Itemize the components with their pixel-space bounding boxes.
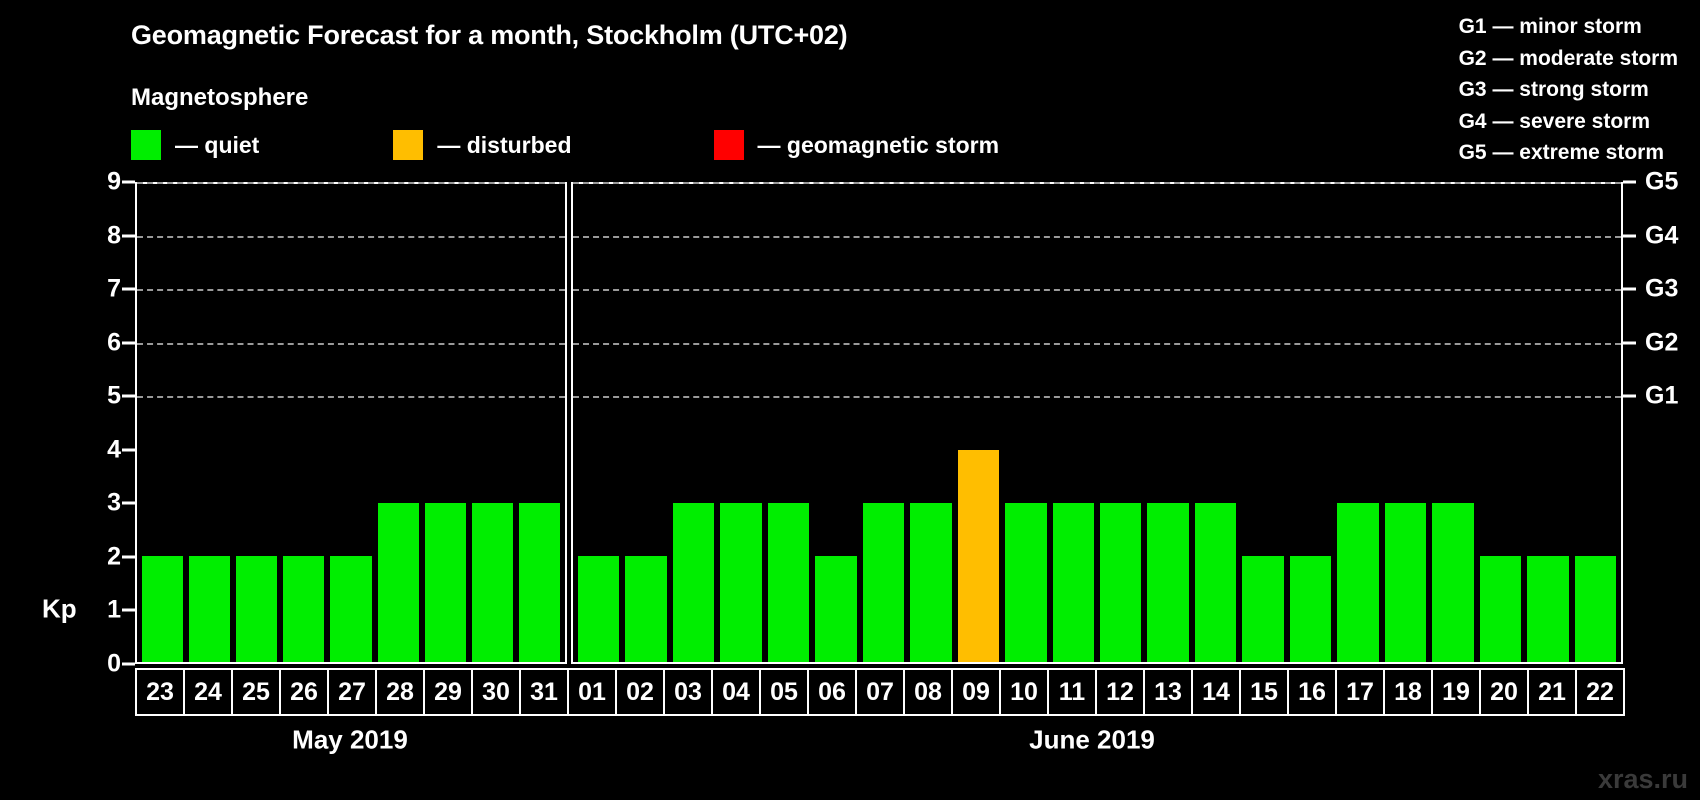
- legend-label-2: — geomagnetic storm: [758, 132, 1000, 159]
- g-legend-row-1: G1 — minor storm: [1459, 11, 1678, 43]
- kp-bar[interactable]: [625, 556, 666, 662]
- day-cell[interactable]: 08: [903, 668, 953, 716]
- day-cell[interactable]: 30: [471, 668, 521, 716]
- magnetosphere-label: Magnetosphere: [131, 84, 308, 112]
- bar-slot[interactable]: [516, 184, 563, 662]
- kp-axis-title: Kp: [42, 594, 77, 625]
- bar-slot[interactable]: [1382, 184, 1429, 662]
- g-legend-row-2: G2 — moderate storm: [1459, 43, 1678, 75]
- g-tick-G3: G3: [1645, 275, 1678, 304]
- kp-bar[interactable]: [910, 503, 951, 662]
- bars-may: [137, 184, 565, 662]
- kp-bar[interactable]: [283, 556, 324, 662]
- kp-bar[interactable]: [578, 556, 619, 662]
- kp-bar[interactable]: [1100, 503, 1141, 662]
- day-cell[interactable]: 23: [135, 668, 185, 716]
- day-cell[interactable]: 26: [279, 668, 329, 716]
- kp-bar[interactable]: [189, 556, 230, 662]
- day-cell[interactable]: 27: [327, 668, 377, 716]
- day-cell[interactable]: 18: [1383, 668, 1433, 716]
- day-cell[interactable]: 06: [807, 668, 857, 716]
- day-cell[interactable]: 03: [663, 668, 713, 716]
- day-cell[interactable]: 14: [1191, 668, 1241, 716]
- g-tickmark-G5: [1623, 181, 1636, 184]
- kp-bar[interactable]: [472, 503, 513, 662]
- g-tick-G4: G4: [1645, 221, 1678, 250]
- disturbed-swatch: [393, 130, 423, 160]
- bar-slot[interactable]: [907, 184, 954, 662]
- kp-bar[interactable]: [378, 503, 419, 662]
- quiet-swatch: [131, 130, 161, 160]
- bar-slot[interactable]: [812, 184, 859, 662]
- kp-bar[interactable]: [330, 556, 371, 662]
- kp-tickmark-7: [122, 288, 135, 291]
- g-scale-axis: G5G4G3G2G1: [1623, 182, 1700, 664]
- month-label-june: June 2019: [1029, 725, 1155, 756]
- day-cell[interactable]: 17: [1335, 668, 1385, 716]
- day-cell[interactable]: 10: [999, 668, 1049, 716]
- kp-bar[interactable]: [1242, 556, 1283, 662]
- kp-bar[interactable]: [142, 556, 183, 662]
- bar-slot[interactable]: [1477, 184, 1524, 662]
- storm-swatch: [714, 130, 744, 160]
- kp-bar[interactable]: [1195, 503, 1236, 662]
- day-cell[interactable]: 11: [1047, 668, 1097, 716]
- bar-slot[interactable]: [765, 184, 812, 662]
- bar-slot[interactable]: [233, 184, 280, 662]
- kp-tick-7: 7: [107, 275, 121, 304]
- day-cell[interactable]: 28: [375, 668, 425, 716]
- day-cell[interactable]: 24: [183, 668, 233, 716]
- g-legend-row-5: G5 — extreme storm: [1459, 137, 1678, 169]
- kp-bar[interactable]: [1053, 503, 1094, 662]
- bar-slot[interactable]: [575, 184, 622, 662]
- kp-tickmark-2: [122, 555, 135, 558]
- day-cell[interactable]: 12: [1095, 668, 1145, 716]
- day-cell[interactable]: 02: [615, 668, 665, 716]
- kp-bar[interactable]: [1005, 503, 1046, 662]
- day-cell[interactable]: 01: [567, 668, 617, 716]
- kp-tickmark-1: [122, 609, 135, 612]
- kp-tickmark-6: [122, 341, 135, 344]
- bar-slot[interactable]: [1050, 184, 1097, 662]
- g-tickmark-G4: [1623, 234, 1636, 237]
- g-scale-legend: G1 — minor stormG2 — moderate stormG3 — …: [1459, 11, 1678, 169]
- legend-entry-0: — quiet: [131, 130, 259, 160]
- bar-slot[interactable]: [375, 184, 422, 662]
- kp-bar[interactable]: [673, 503, 714, 662]
- g-tickmark-G3: [1623, 288, 1636, 291]
- kp-bar[interactable]: [1337, 503, 1378, 662]
- kp-bar[interactable]: [1290, 556, 1331, 662]
- kp-bar[interactable]: [720, 503, 761, 662]
- kp-axis: Kp 9876543210: [0, 182, 135, 664]
- kp-tick-0: 0: [107, 650, 121, 679]
- kp-bar[interactable]: [236, 556, 277, 662]
- day-group-june: 0102030405060708091011121314151617181920…: [567, 668, 1623, 716]
- bar-slot[interactable]: [469, 184, 516, 662]
- chart-plot-area: [135, 182, 1623, 664]
- kp-bar[interactable]: [815, 556, 856, 662]
- day-cell[interactable]: 15: [1239, 668, 1289, 716]
- kp-bar[interactable]: [519, 503, 560, 662]
- bar-slot[interactable]: [1524, 184, 1571, 662]
- day-cell[interactable]: 16: [1287, 668, 1337, 716]
- g-tick-G5: G5: [1645, 168, 1678, 197]
- kp-tickmark-5: [122, 395, 135, 398]
- day-cell[interactable]: 13: [1143, 668, 1193, 716]
- g-tickmark-G1: [1623, 395, 1636, 398]
- day-cell[interactable]: 05: [759, 668, 809, 716]
- bar-slot[interactable]: [860, 184, 907, 662]
- kp-bar[interactable]: [1480, 556, 1521, 662]
- day-cell[interactable]: 07: [855, 668, 905, 716]
- kp-bar[interactable]: [1147, 503, 1188, 662]
- legend-label-1: — disturbed: [437, 132, 571, 159]
- bar-slot[interactable]: [186, 184, 233, 662]
- bar-slot[interactable]: [1429, 184, 1476, 662]
- panel-june: [571, 182, 1623, 664]
- kp-bar[interactable]: [768, 503, 809, 662]
- panel-may: [135, 182, 567, 664]
- kp-tick-8: 8: [107, 221, 121, 250]
- g-tick-G2: G2: [1645, 328, 1678, 357]
- bar-slot[interactable]: [1334, 184, 1381, 662]
- day-cell[interactable]: 25: [231, 668, 281, 716]
- kp-tick-9: 9: [107, 168, 121, 197]
- g-tickmark-G2: [1623, 341, 1636, 344]
- kp-bar[interactable]: [958, 450, 999, 662]
- bar-slot[interactable]: [327, 184, 374, 662]
- bar-slot[interactable]: [1097, 184, 1144, 662]
- kp-tick-6: 6: [107, 328, 121, 357]
- bar-slot[interactable]: [1572, 184, 1619, 662]
- kp-tickmark-9: [122, 181, 135, 184]
- kp-tickmark-4: [122, 448, 135, 451]
- bar-slot[interactable]: [280, 184, 327, 662]
- day-cell[interactable]: 20: [1479, 668, 1529, 716]
- kp-bar[interactable]: [1432, 503, 1473, 662]
- bar-slot[interactable]: [1239, 184, 1286, 662]
- bars-june: [573, 184, 1621, 662]
- day-label-row: 232425262728293031 010203040506070809101…: [135, 668, 1623, 716]
- day-cell[interactable]: 29: [423, 668, 473, 716]
- kp-tickmark-0: [122, 663, 135, 666]
- kp-bar[interactable]: [425, 503, 466, 662]
- month-label-may: May 2019: [292, 725, 408, 756]
- kp-bar[interactable]: [1527, 556, 1568, 662]
- day-group-may: 232425262728293031: [135, 668, 567, 716]
- page-title: Geomagnetic Forecast for a month, Stockh…: [131, 20, 847, 51]
- g-tick-G1: G1: [1645, 382, 1678, 411]
- kp-legend: — quiet— disturbed— geomagnetic storm: [131, 130, 999, 160]
- kp-tick-1: 1: [107, 596, 121, 625]
- bar-slot[interactable]: [1192, 184, 1239, 662]
- legend-label-0: — quiet: [175, 132, 259, 159]
- kp-tickmark-3: [122, 502, 135, 505]
- kp-bar[interactable]: [863, 503, 904, 662]
- g-legend-row-4: G4 — severe storm: [1459, 106, 1678, 138]
- legend-entry-1: — disturbed: [393, 130, 571, 160]
- bar-slot[interactable]: [717, 184, 764, 662]
- g-legend-row-3: G3 — strong storm: [1459, 74, 1678, 106]
- kp-bar[interactable]: [1575, 556, 1616, 662]
- kp-tick-4: 4: [107, 435, 121, 464]
- watermark: xras.ru: [1598, 764, 1688, 795]
- bar-slot[interactable]: [1002, 184, 1049, 662]
- bar-slot[interactable]: [955, 184, 1002, 662]
- bar-slot[interactable]: [139, 184, 186, 662]
- kp-tickmark-8: [122, 234, 135, 237]
- kp-tick-3: 3: [107, 489, 121, 518]
- day-cell[interactable]: 04: [711, 668, 761, 716]
- day-cell[interactable]: 21: [1527, 668, 1577, 716]
- legend-entry-2: — geomagnetic storm: [714, 130, 1000, 160]
- day-cell[interactable]: 19: [1431, 668, 1481, 716]
- bar-slot[interactable]: [422, 184, 469, 662]
- kp-tick-5: 5: [107, 382, 121, 411]
- bar-slot[interactable]: [1144, 184, 1191, 662]
- bar-slot[interactable]: [1287, 184, 1334, 662]
- bar-slot[interactable]: [622, 184, 669, 662]
- day-cell[interactable]: 09: [951, 668, 1001, 716]
- bar-slot[interactable]: [670, 184, 717, 662]
- day-cell[interactable]: 22: [1575, 668, 1625, 716]
- kp-tick-2: 2: [107, 542, 121, 571]
- day-cell[interactable]: 31: [519, 668, 569, 716]
- kp-bar[interactable]: [1385, 503, 1426, 662]
